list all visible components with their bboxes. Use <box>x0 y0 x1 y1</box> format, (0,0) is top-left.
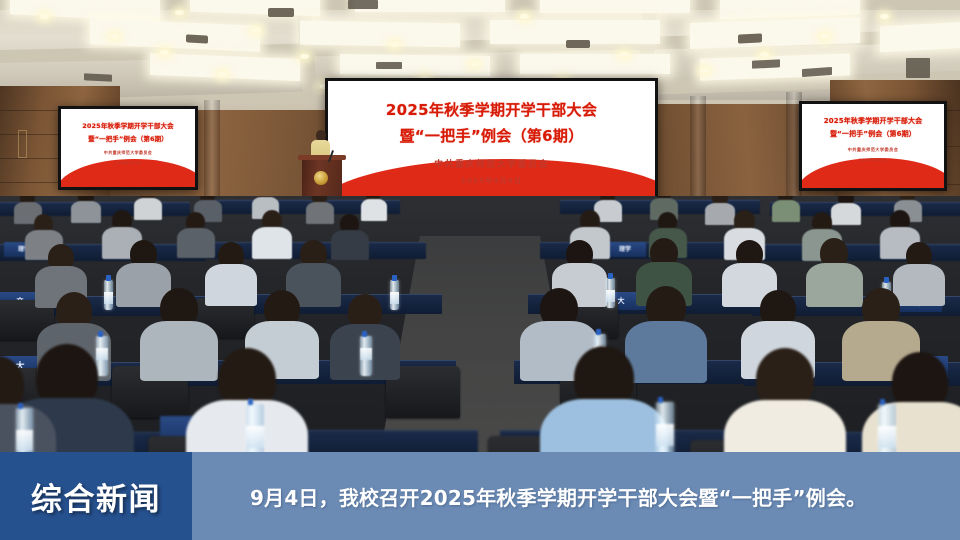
screen-main-title-line1: 2025年秋季学期开学干部大会 <box>386 99 597 120</box>
news-caption-area: 9月4日，我校召开2025年秋季学期开学干部大会暨“一把手”例会。 <box>192 452 960 540</box>
ceiling-vent-icon <box>84 73 112 81</box>
screenshot-root: 2025年秋季学期开学干部大会 暨“一把手”例会（第6期） 中共重庆师范大学委员… <box>0 0 960 540</box>
screen-main-organization: 中共重庆师范大学委员会 <box>434 157 549 170</box>
news-caption: 9月4日，我校召开2025年秋季学期开学干部大会暨“一把手”例会。 <box>250 482 866 511</box>
ceiling-speaker-icon <box>186 34 208 43</box>
audience-area: 理学 理学 文 文 大 刘 <box>0 196 960 486</box>
projection-screen-left: 2025年秋季学期开学干部大会 暨“一把手”例会（第6期） 中共重庆师范大学委员… <box>58 106 198 190</box>
ceiling-speaker-icon <box>566 40 590 48</box>
ceiling-vent-icon <box>906 58 930 78</box>
screen-left-date: 2025年9月4日 <box>115 160 141 165</box>
screen-right-title-line1: 2025年秋季学期开学干部大会 <box>824 116 923 126</box>
ceiling-speaker-icon <box>268 8 294 17</box>
projection-screen-main: 2025年秋季学期开学干部大会 暨“一把手”例会（第6期） 中共重庆师范大学委员… <box>325 78 658 206</box>
news-category-label: 综合新闻 <box>31 474 161 519</box>
screen-right-organization: 中共重庆师范大学委员会 <box>848 147 899 153</box>
screen-left-title-line2: 暨“一把手”例会（第6期） <box>88 133 168 143</box>
news-category-badge[interactable]: 综合新闻 <box>0 452 192 540</box>
screen-right-date: 2025年9月4日 <box>859 157 887 162</box>
news-banner: 综合新闻 9月4日，我校召开2025年秋季学期开学干部大会暨“一把手”例会。 <box>0 452 960 540</box>
podium-top <box>298 155 346 160</box>
ceiling-vent-icon <box>376 62 402 69</box>
ceiling-vent-icon <box>348 0 378 9</box>
ceiling-speaker-icon <box>738 33 762 43</box>
ceiling-vent-icon <box>752 59 780 68</box>
screen-main-date: 2025年9月4日 <box>461 176 523 186</box>
projection-screen-right: 2025年秋季学期开学干部大会 暨“一把手”例会（第6期） 中共重庆师范大学委员… <box>799 101 947 191</box>
screen-right-title-line2: 暨“一把手”例会（第6期） <box>830 129 916 139</box>
screen-left-title-line1: 2025年秋季学期开学干部大会 <box>82 120 174 130</box>
podium-emblem-icon <box>314 171 328 185</box>
screen-left-organization: 中共重庆师范大学委员会 <box>104 150 152 156</box>
name-placard: 理学 <box>604 242 646 257</box>
screen-main-title-line2: 暨“一把手”例会（第6期） <box>399 125 583 146</box>
